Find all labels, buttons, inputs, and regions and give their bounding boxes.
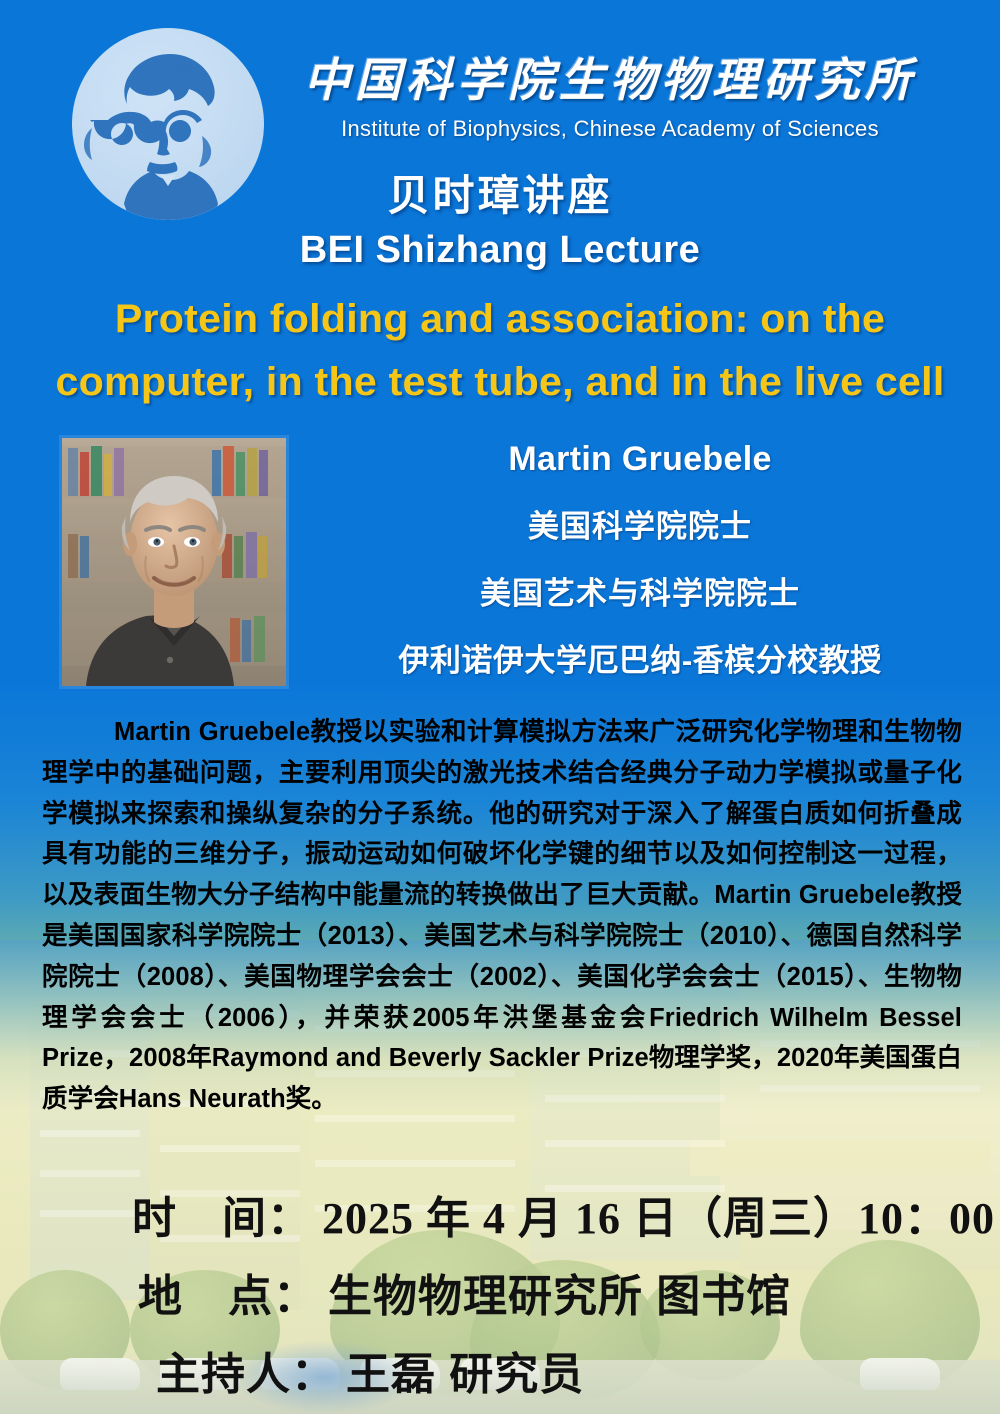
institute-name: 中国科学院生物物理研究所 Institute of Biophysics, Ch… <box>300 44 920 142</box>
lecture-title: Protein folding and association: on the … <box>26 288 974 414</box>
event-time-row: 时 间： 2025 年 4 月 16 日（周三）10：00 <box>132 1182 992 1246</box>
event-host-label: 主持人： <box>156 1338 336 1402</box>
event-place-label: 地 点： <box>138 1260 318 1324</box>
event-host-value: 王磊 研究员 <box>346 1338 584 1402</box>
lecture-series: 贝时璋讲座 BEI Shizhang Lecture <box>0 162 1000 272</box>
speaker-photo <box>62 438 286 686</box>
bio-text: Martin Gruebele教授以实验和计算模拟方法来广泛研究化学物理和生物物… <box>42 718 962 1113</box>
series-name-cn: 贝时璋讲座 <box>0 162 1000 223</box>
speaker-affiliation-2: 美国艺术与科学院院士 <box>300 568 980 613</box>
lecture-poster: 中国科学院生物物理研究所 Institute of Biophysics, Ch… <box>0 0 1000 1414</box>
event-place-row: 地 点： 生物物理研究所 图书馆 <box>138 1260 992 1324</box>
speaker-info: Martin Gruebele 美国科学院院士 美国艺术与科学院院士 伊利诺伊大… <box>300 440 980 680</box>
event-place-value: 生物物理研究所 图书馆 <box>328 1260 791 1324</box>
institute-name-en: Institute of Biophysics, Chinese Academy… <box>300 116 920 142</box>
event-details: 时 间： 2025 年 4 月 16 日（周三）10：00 地 点： 生物物理研… <box>132 1182 992 1414</box>
event-host-row: 主持人： 王磊 研究员 <box>156 1338 992 1402</box>
institute-name-cn: 中国科学院生物物理研究所 <box>300 44 920 110</box>
speaker-affiliation-3: 伊利诺伊大学厄巴纳-香槟分校教授 <box>300 635 980 680</box>
event-time-value: 2025 年 4 月 16 日（周三）10：00 <box>322 1182 995 1246</box>
event-time-label: 时 间： <box>132 1182 312 1246</box>
poster-header: 中国科学院生物物理研究所 Institute of Biophysics, Ch… <box>0 0 1000 150</box>
speaker-name: Martin Gruebele <box>300 440 980 479</box>
speaker-biography: Martin Gruebele教授以实验和计算模拟方法来广泛研究化学物理和生物物… <box>42 712 962 1120</box>
series-name-en: BEI Shizhang Lecture <box>0 229 1000 272</box>
speaker-affiliation-1: 美国科学院院士 <box>300 501 980 546</box>
